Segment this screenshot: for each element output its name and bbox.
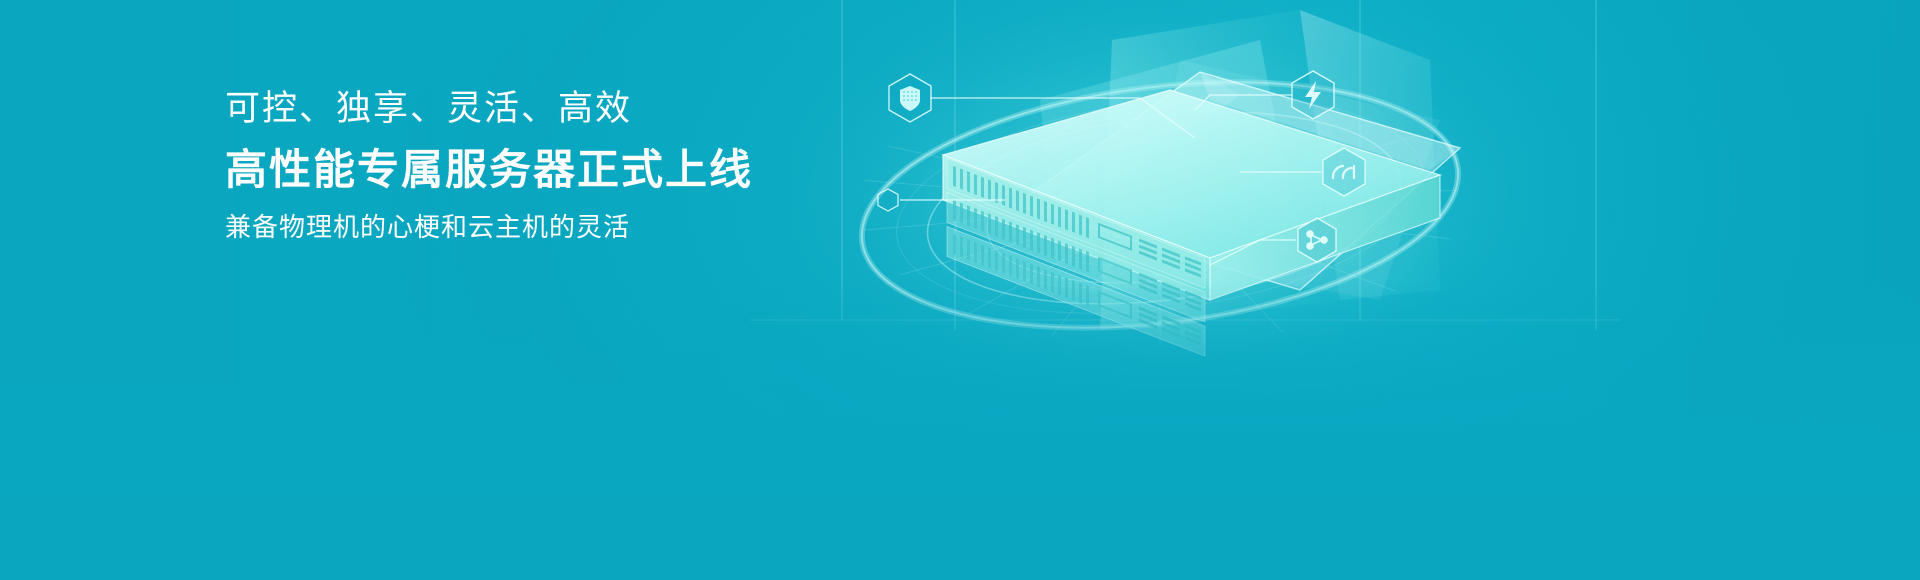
hero-eyebrow: 可控、独享、灵活、高效 bbox=[225, 86, 985, 132]
hero-subcopy: 兼备物理机的心梗和云主机的灵活 bbox=[225, 210, 985, 245]
hero-copy: 可控、独享、灵活、高效 高性能专属服务器正式上线 兼备物理机的心梗和云主机的灵活 bbox=[225, 86, 985, 245]
bottom-fade bbox=[0, 280, 1920, 580]
hero-banner: 可控、独享、灵活、高效 高性能专属服务器正式上线 兼备物理机的心梗和云主机的灵活 bbox=[0, 0, 1920, 580]
hero-headline: 高性能专属服务器正式上线 bbox=[225, 144, 985, 197]
